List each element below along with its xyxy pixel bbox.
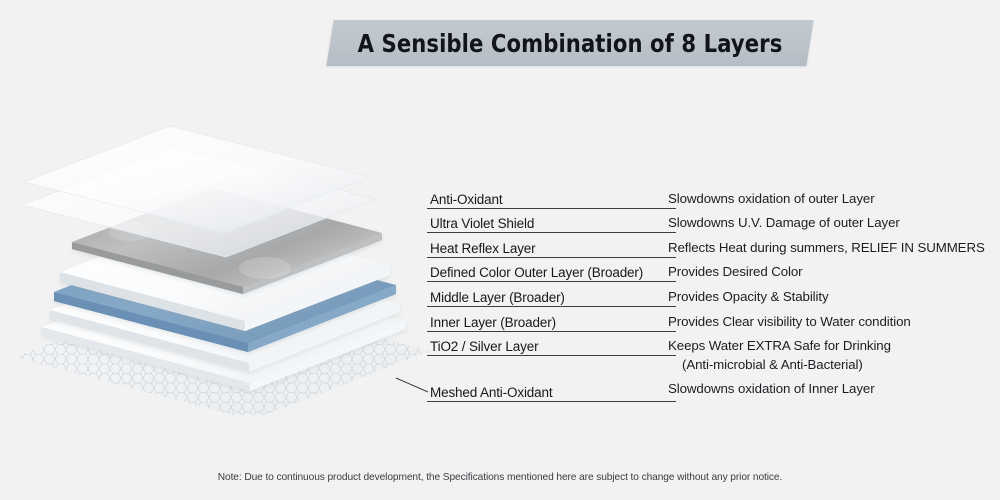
layer-label-list: Anti-Oxidant Ultra Violet Shield Heat Re… [427,186,667,404]
layer-label: Inner Layer (Broader) [430,315,556,330]
label-underline [427,257,676,258]
layer-label-row: Ultra Violet Shield [427,211,667,236]
layer-label-row: TiO2 / Silver Layer [427,334,667,359]
layer-label-row: Anti-Oxidant [427,186,667,211]
layer-label: Ultra Violet Shield [430,216,534,231]
label-underline [427,355,676,356]
layer-description-line2: (Anti-microbial & Anti-Bacterial) [668,355,891,374]
label-underline [427,208,676,209]
layer-description: Provides Clear visibility to Water condi… [668,312,911,334]
page-title: A Sensible Combination of 8 Layers [344,20,795,66]
layer-description: Provides Desired Color [668,262,803,284]
layer-description-row: Slowdowns oxidation of Inner Layer [668,377,1000,402]
layer-label-row: Defined Color Outer Layer (Broader) [427,260,667,285]
layer-label-row: Meshed Anti-Oxidant [427,379,667,404]
layer-label: Anti-Oxidant [430,192,502,207]
layer-description-row: Provides Desired Color [668,260,1000,285]
layer-description-row: Slowdowns U.V. Damage of outer Layer [668,211,1000,236]
layer-description-list: Slowdowns oxidation of outer Layer Slowd… [668,186,1000,401]
layer-label-row: Middle Layer (Broader) [427,284,667,309]
label-underline [427,401,676,402]
layer-description: Reflects Heat during summers, RELIEF IN … [668,238,985,260]
layer-description: Provides Opacity & Stability [668,287,829,309]
layer-description-row: Reflects Heat during summers, RELIEF IN … [668,235,1000,260]
layer-description-row: Provides Opacity & Stability [668,284,1000,309]
layer-description-line1: Keeps Water EXTRA Safe for Drinking [668,338,891,353]
footer-note: Note: Due to continuous product developm… [0,472,1000,483]
label-underline [427,232,676,233]
layer-label-row: Heat Reflex Layer [427,235,667,260]
layer-description: Slowdowns oxidation of Inner Layer [668,379,875,401]
layer-description-row: Provides Clear visibility to Water condi… [668,309,1000,334]
layer-label-row: Inner Layer (Broader) [427,309,667,334]
layer-label: Heat Reflex Layer [430,241,536,256]
layer-description-row: Keeps Water EXTRA Safe for Drinking (Ant… [668,334,1000,377]
label-underline [427,331,676,332]
layer-label: Defined Color Outer Layer (Broader) [430,265,643,280]
label-underline [427,281,676,282]
label-underline [427,306,676,307]
layer-stack-diagram [0,95,440,415]
infographic-page: A Sensible Combination of 8 Layers [0,0,1000,500]
layer-description: Keeps Water EXTRA Safe for Drinking (Ant… [668,336,891,377]
layer-description-row: Slowdowns oxidation of outer Layer [668,186,1000,211]
layer-label: TiO2 / Silver Layer [430,339,538,354]
layer-description: Slowdowns oxidation of outer Layer [668,189,875,211]
leader-line-meshed [396,378,428,392]
layer-description: Slowdowns U.V. Damage of outer Layer [668,213,900,235]
layer-label: Meshed Anti-Oxidant [430,385,552,400]
layer-label: Middle Layer (Broader) [430,290,565,305]
